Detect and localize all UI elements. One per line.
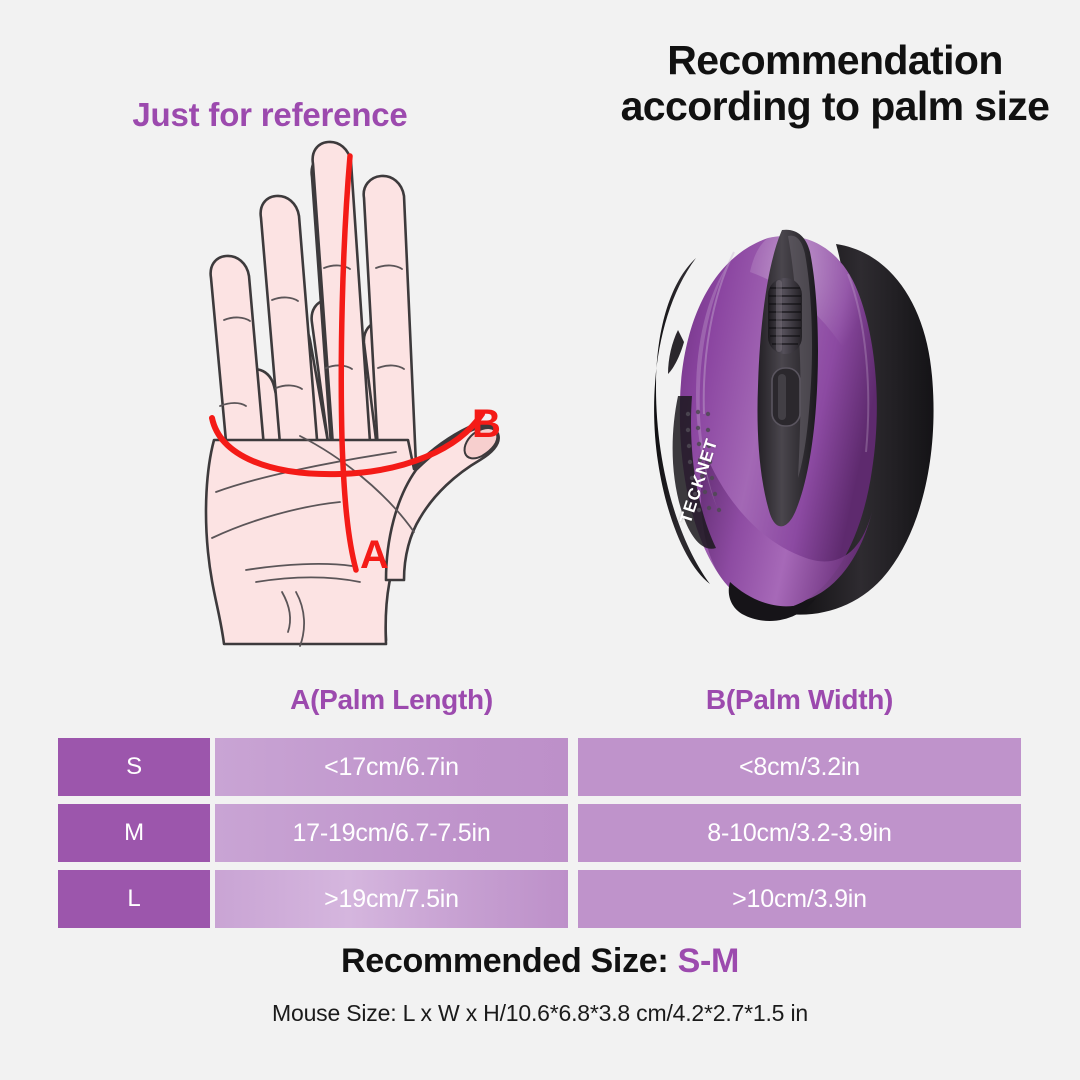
palm-length-value-m: 17-19cm/6.7-7.5in [215,804,568,862]
size-label-l: L [58,870,210,928]
palm-width-value-s: <8cm/3.2in [578,738,1021,796]
palm-length-value-l: >19cm/7.5in [215,870,568,928]
recommended-size: Recommended Size: S-M [0,942,1080,981]
palm-width-value-l: >10cm/3.9in [578,870,1021,928]
mouse-product-image [600,200,1000,640]
page-title: Recommendation according to palm size [600,38,1070,130]
palm-width-value-m: 8-10cm/3.2-3.9in [578,804,1021,862]
infographic-page: Recommendation according to palm size Ju… [0,0,1080,1080]
mouse-dimensions: Mouse Size: L x W x H/10.6*6.8*3.8 cm/4.… [0,1000,1080,1027]
table-row: S <17cm/6.7in <8cm/3.2in [0,738,1080,796]
size-label-s: S [58,738,210,796]
page-title-line2: according to palm size [600,84,1070,130]
size-table: S <17cm/6.7in <8cm/3.2in M 17-19cm/6.7-7… [0,738,1080,936]
table-column-headers: A(Palm Length) B(Palm Width) [0,684,1080,724]
column-header-palm-length: A(Palm Length) [215,684,568,716]
palm-width-label-b: B [472,404,501,444]
recommended-size-label: Recommended Size: [341,942,668,980]
column-header-palm-width: B(Palm Width) [578,684,1021,716]
palm-length-value-s: <17cm/6.7in [215,738,568,796]
recommended-size-value: S-M [678,942,739,980]
page-title-line1: Recommendation [600,38,1070,84]
size-label-m: M [58,804,210,862]
table-row: L >19cm/7.5in >10cm/3.9in [0,870,1080,928]
reference-heading: Just for reference [40,96,500,134]
palm-length-label-a: A [360,535,389,575]
table-row: M 17-19cm/6.7-7.5in 8-10cm/3.2-3.9in [0,804,1080,862]
